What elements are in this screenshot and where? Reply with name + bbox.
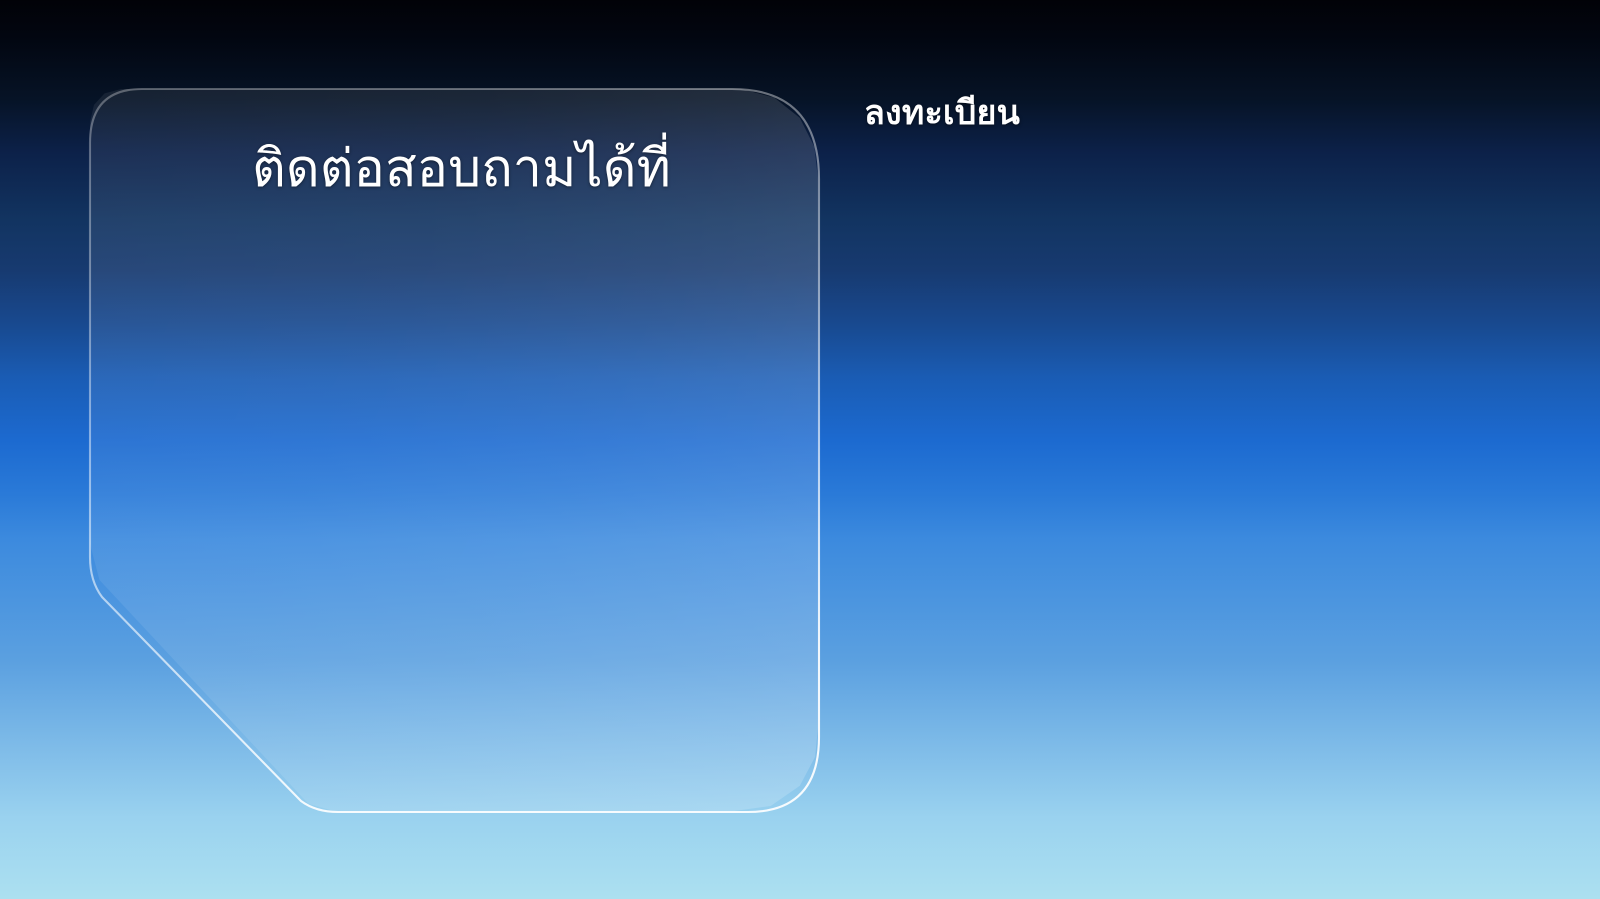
card-heading: ติดต่อสอบถามได้ที่ (252, 139, 671, 200)
slide-canvas: ติดต่อสอบถามได้ที่ ลงทะเบียน (0, 0, 1600, 899)
register-label: ลงทะเบียน (864, 92, 1020, 135)
